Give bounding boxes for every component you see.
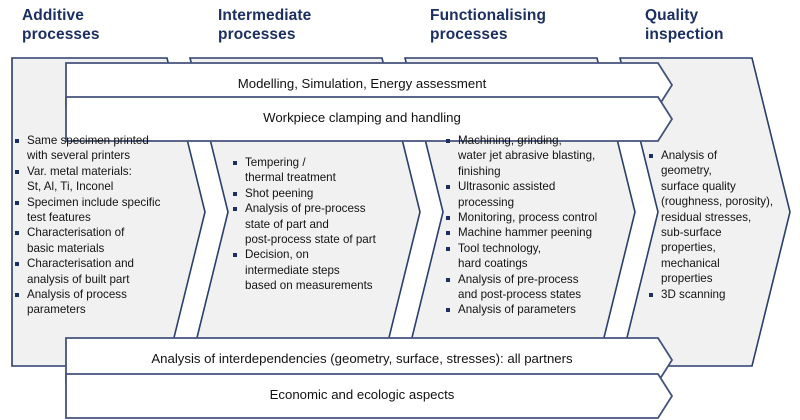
list-item: Characterisation and analysis of built p… (14, 256, 194, 287)
list-item: Specimen include specific test features (14, 195, 194, 226)
bar-label-interdependencies: Analysis of interdependencies (geometry,… (66, 351, 658, 366)
list-item: Same specimen printed with several print… (14, 133, 194, 164)
column-body-functionalising: Machining, grinding, water jet abrasive … (445, 133, 625, 318)
list-item: Machine hammer peening (445, 225, 625, 240)
list-item: 3D scanning (648, 287, 788, 302)
list-item: Tool technology, hard coatings (445, 241, 625, 272)
column-header-intermediate: Intermediate processes (218, 6, 398, 44)
list-item: Analysis of pre-process and post-process… (445, 272, 625, 303)
list-item: Ultrasonic assisted processing (445, 179, 625, 210)
column-header-functionalising: Functionalising processes (430, 6, 620, 44)
bar-label-clamping: Workpiece clamping and handling (66, 110, 658, 125)
list-item: Analysis of process parameters (14, 287, 194, 318)
list-item: Analysis of geometry, surface quality (r… (648, 148, 788, 287)
list-item: Analysis of pre-process state of part an… (232, 201, 412, 247)
list-item: Analysis of parameters (445, 302, 625, 317)
bar-label-modelling: Modelling, Simulation, Energy assessment (66, 76, 658, 91)
list-item: Machining, grinding, water jet abrasive … (445, 133, 625, 179)
list-item: Decision, on intermediate steps based on… (232, 247, 412, 293)
column-header-quality: Quality inspection (645, 6, 795, 44)
list-item: Monitoring, process control (445, 210, 625, 225)
list-item: Characterisation of basic materials (14, 225, 194, 256)
column-header-additive: Additive processes (22, 6, 182, 44)
column-body-intermediate: Tempering / thermal treatment Shot peeni… (232, 155, 412, 294)
column-body-quality: Analysis of geometry, surface quality (r… (648, 148, 788, 302)
list-item: Var. metal materials: St, Al, Ti, Incone… (14, 164, 194, 195)
bar-label-economic: Economic and ecologic aspects (66, 387, 658, 402)
list-item: Shot peening (232, 186, 412, 201)
process-chain-diagram: .colshape{ fill:#f1f1f1; stroke:#2a3f6b;… (0, 0, 800, 420)
list-item: Tempering / thermal treatment (232, 155, 412, 186)
column-body-additive: Same specimen printed with several print… (14, 133, 194, 318)
